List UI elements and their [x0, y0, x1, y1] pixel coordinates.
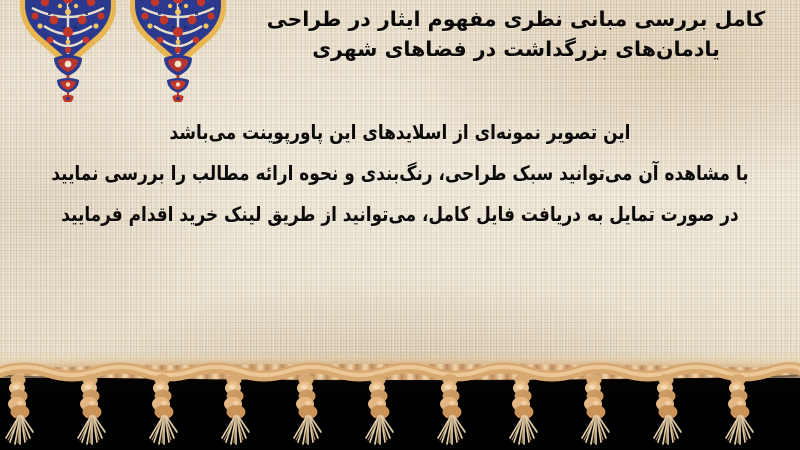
slide-title: کامل بررسی مبانی نظری مفهوم ایثار در طرا…: [238, 4, 794, 64]
braided-cord: [0, 364, 800, 380]
body-line-2: با مشاهده آن می‌توانید سبک طراحی، رنگ‌بن…: [24, 153, 776, 194]
slide-canvas: کامل بررسی مبانی نظری مفهوم ایثار در طرا…: [0, 0, 800, 450]
title-line-2: یادمان‌های بزرگداشت در فضاهای شهری: [238, 34, 794, 64]
body-line-1: این تصویر نمونه‌ای از اسلایدهای این پاور…: [24, 112, 776, 153]
black-bottom-band: [0, 372, 800, 450]
slide-body: این تصویر نمونه‌ای از اسلایدهای این پاور…: [0, 112, 800, 235]
title-line-1: کامل بررسی مبانی نظری مفهوم ایثار در طرا…: [238, 4, 794, 34]
body-line-3: در صورت تمایل به دریافت فایل کامل، می‌تو…: [24, 194, 776, 235]
